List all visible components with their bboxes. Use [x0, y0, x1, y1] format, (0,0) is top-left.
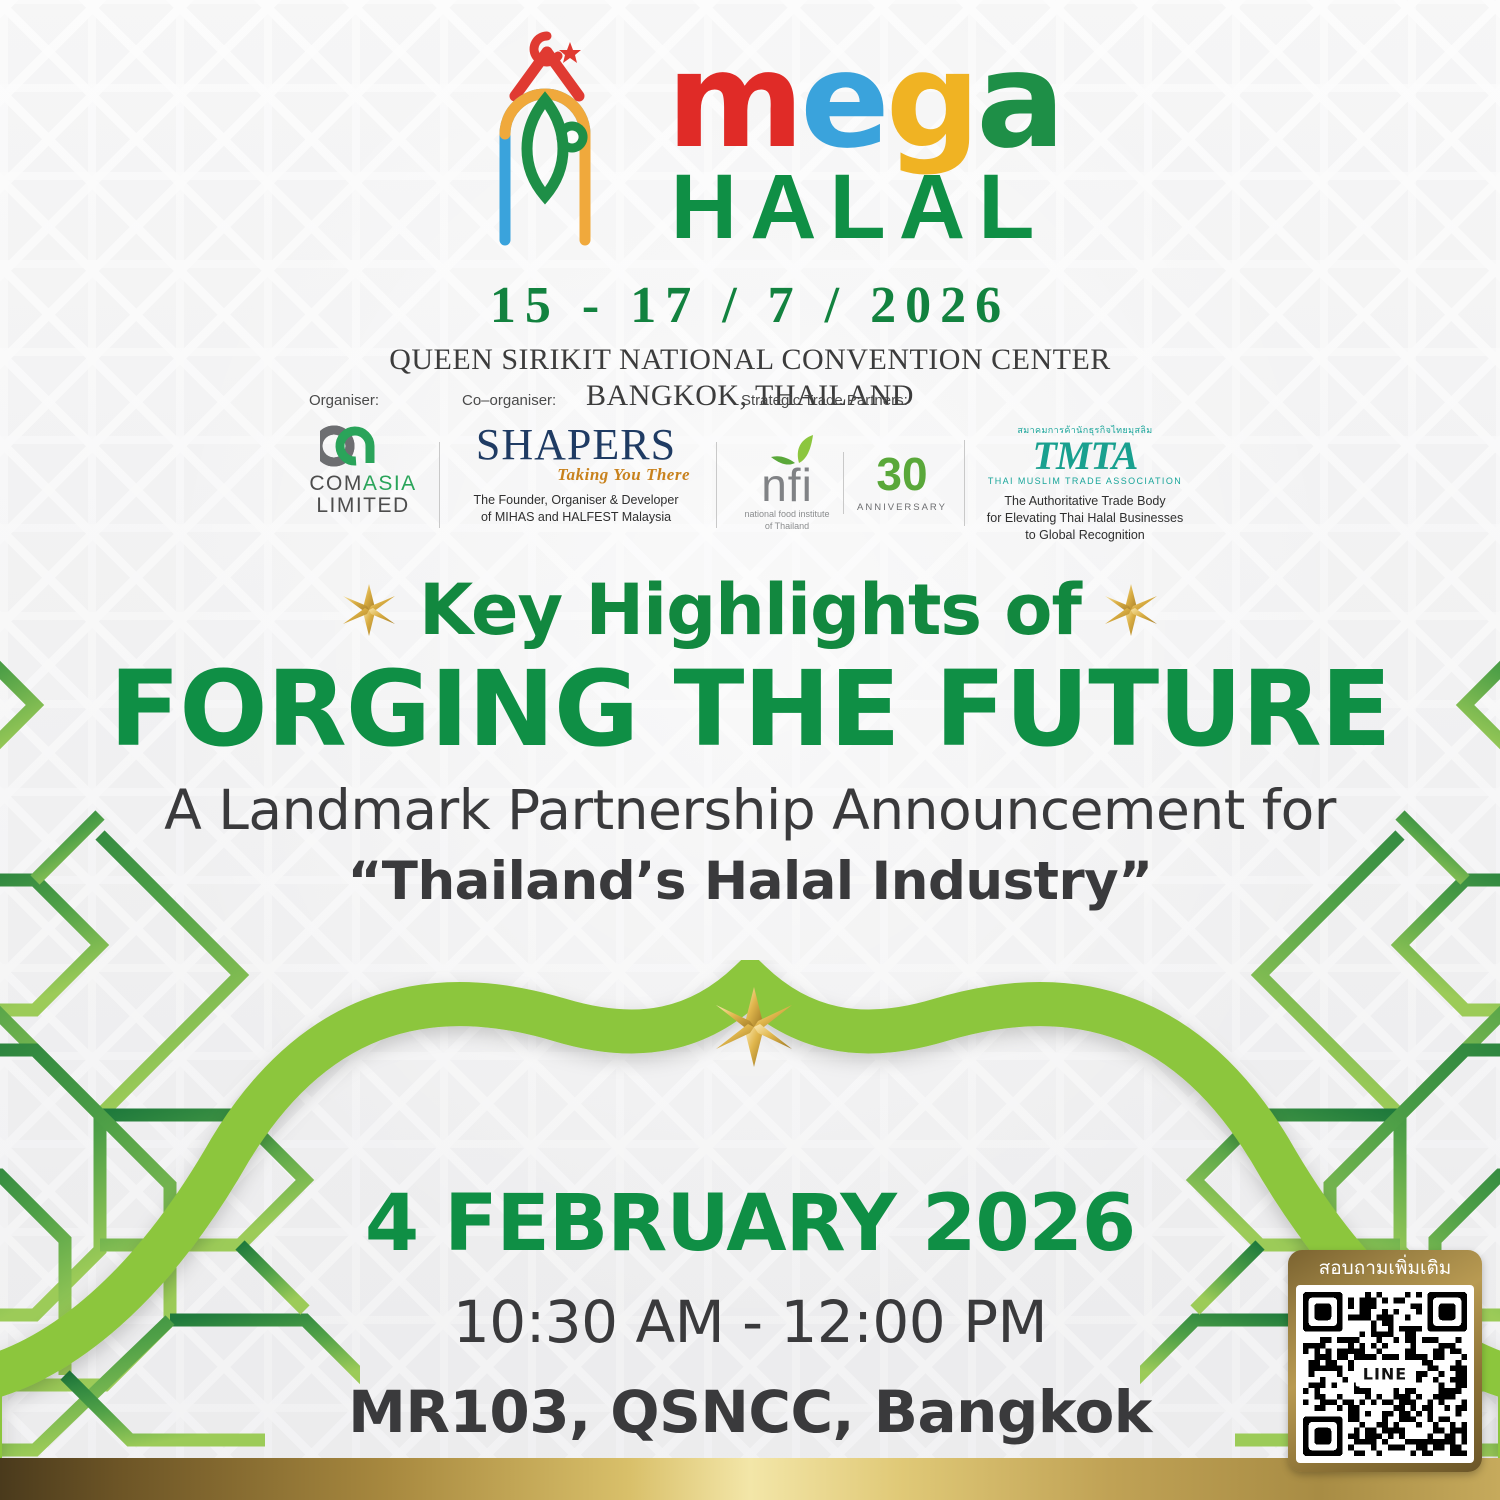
event-location: MR103, QSNCC, Bangkok [0, 1383, 1500, 1441]
comasia-name: COMASIA LIMITED [309, 473, 416, 517]
nfi-anniversary-divider [843, 452, 844, 514]
anniversary-label: ANNIVERSARY [857, 502, 947, 513]
gold-star-icon-right [1103, 582, 1159, 638]
tmta-wordmark: TMTA [1033, 437, 1138, 475]
event-details-block: 4 FEBRUARY 2026 10:30 AM - 12:00 PM MR10… [0, 1185, 1500, 1441]
shapers-caption: The Founder, Organiser & Developer of MI… [474, 492, 679, 526]
headline-subtitle-1: A Landmark Partnership Announcement for [0, 777, 1500, 844]
headline-title: FORGING THE FUTURE [0, 653, 1500, 765]
partner-divider-1 [439, 442, 440, 528]
tmta-full-name: THAI MUSLIM TRADE ASSOCIATION [988, 476, 1182, 486]
partners-strip: Organiser: COMASIA LIMITED Co–organise [0, 392, 1500, 544]
organiser-block: Organiser: COMASIA LIMITED [309, 392, 417, 517]
nfi-wordmark: nfi [761, 465, 813, 506]
gold-footer-bar [0, 1458, 1500, 1500]
mega-letter-e: e [800, 47, 886, 155]
tmta-logo: สมาคมการค้านักธุรกิจไทยมุสลิม TMTA THAI … [979, 423, 1191, 544]
mega-letter-a: a [976, 47, 1061, 155]
shapers-wordmark: SHAPERS [476, 423, 676, 467]
shapers-tagline: Taking You There [557, 465, 690, 485]
coorganiser-label: Co–organiser: [462, 392, 690, 409]
headline-subtitle-2: “Thailand’s Halal Industry” [0, 850, 1500, 914]
strategic-partners-block: Strategic Trade Partners: nfi national f… [741, 392, 1191, 544]
halal-wordmark: HALAL [671, 161, 1048, 253]
mega-letter-m: m [667, 47, 801, 155]
poster-canvas: m e g a HALAL 15 - 17 / 7 / 2026 QUEEN S… [0, 0, 1500, 1500]
comasia-limited: LIMITED [316, 494, 409, 517]
qr-card-title: สอบถามเพิ่มเติม [1296, 1258, 1474, 1279]
organiser-label: Organiser: [309, 392, 417, 409]
coorganiser-block: Co–organiser: SHAPERS Taking You There T… [462, 392, 690, 526]
qr-contact-card[interactable]: สอบถามเพิ่มเติม LINE [1288, 1250, 1482, 1472]
qr-line-label: LINE [1356, 1362, 1414, 1387]
shapers-caption-line1: The Founder, Organiser & Developer [474, 493, 679, 507]
nfi-sub-line2: of Thailand [765, 521, 809, 531]
nfi-sub-line1: national food institute [744, 509, 829, 519]
mosque-logo-icon [439, 18, 649, 258]
gold-star-icon-left [341, 582, 397, 638]
headline-block: Key Highlights of FORGING THE FUTURE A L… [0, 575, 1500, 914]
event-logo-header: m e g a HALAL 15 - 17 / 7 / 2026 QUEEN S… [0, 18, 1500, 413]
event-dates: 15 - 17 / 7 / 2026 [0, 276, 1500, 335]
partner-divider-3 [964, 440, 965, 526]
strategic-partners-label: Strategic Trade Partners: [741, 392, 1191, 409]
shapers-caption-line2: of MIHAS and HALFEST Malaysia [481, 510, 671, 524]
event-time: 10:30 AM - 12:00 PM [0, 1293, 1500, 1351]
tmta-caption-line1: The Authoritative Trade Body [1004, 494, 1165, 508]
anniversary-number: 30 [876, 454, 927, 495]
event-date: 4 FEBRUARY 2026 [0, 1185, 1500, 1263]
comasia-com: COM [309, 472, 363, 495]
tmta-caption-line2: for Elevating Thai Halal Businesses [987, 511, 1183, 525]
headline-eyebrow: Key Highlights of [419, 575, 1081, 645]
venue-name: QUEEN SIRIKIT NATIONAL CONVENTION CENTER [0, 343, 1500, 377]
nfi-logo: nfi national food institute of Thailand [741, 435, 833, 532]
comasia-logo: COMASIA LIMITED [309, 423, 417, 517]
tmta-caption: The Authoritative Trade Body for Elevati… [987, 493, 1183, 544]
mega-letter-g: g [886, 47, 977, 155]
partner-divider-2 [716, 442, 717, 528]
comasia-asia: ASIA [363, 472, 417, 495]
shapers-logo: SHAPERS Taking You There The Founder, Or… [462, 423, 690, 526]
tmta-caption-line3: to Global Recognition [1025, 528, 1145, 542]
mega-wordmark: m e g a [667, 47, 1062, 155]
qr-code-container[interactable]: LINE [1296, 1285, 1474, 1463]
nfi-subtitle: national food institute of Thailand [744, 509, 829, 532]
gold-star-icon-apex [712, 985, 796, 1069]
comasia-mark-icon [320, 423, 406, 469]
nfi-anniversary-logo: 30 ANNIVERSARY [854, 454, 950, 512]
